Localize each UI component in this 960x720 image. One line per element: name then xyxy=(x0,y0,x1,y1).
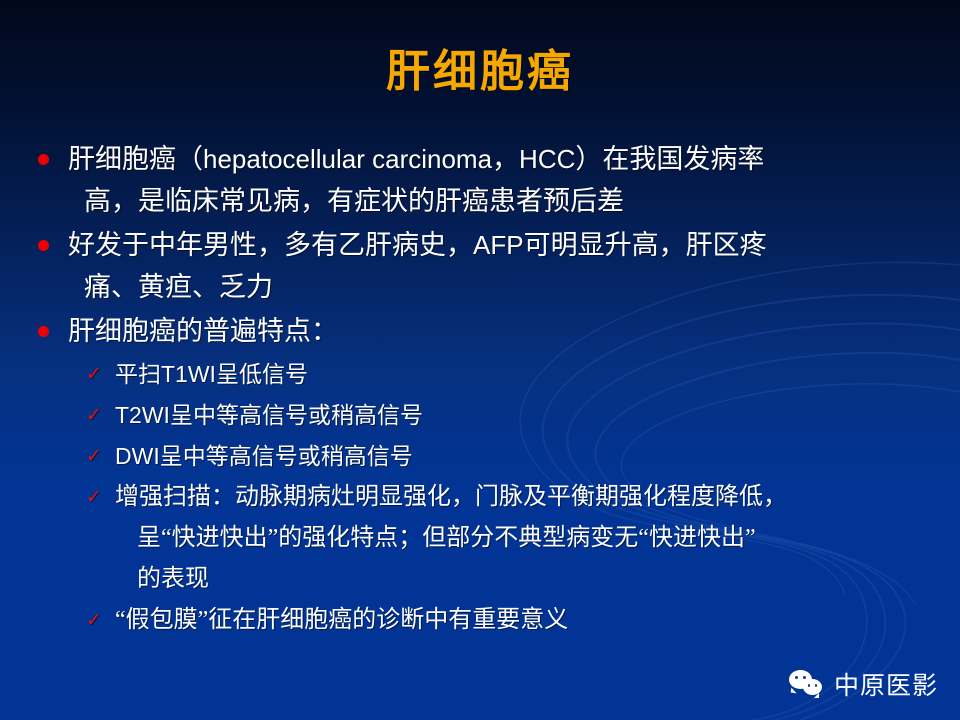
sub-bullet-text-line2: 呈“快进快出”的强化特点；但部分不典型病变无“快进快出” xyxy=(115,518,936,559)
sub-bullet-text: DWI呈中等高信号或稍高信号 xyxy=(115,443,413,469)
bullet-text-part: 肝细胞癌的普遍特点： xyxy=(68,316,338,346)
sub-bullet-text: 增强扫描：动脉期病灶明显强化，门脉及平衡期强化程度降低， xyxy=(115,484,787,510)
check-mark-icon: ✓ xyxy=(86,477,102,518)
presentation-slide: 肝细胞癌 肝细胞癌（hepatocellular carcinoma，HCC）在… xyxy=(0,0,960,720)
sub-bullet-item: ✓ 平扫T1WI呈低信号 xyxy=(0,354,960,395)
bullet-dot-icon xyxy=(38,240,49,251)
bullet-text-line2: 痛、黄疸、乏力 xyxy=(68,266,942,308)
slide-content: 肝细胞癌（hepatocellular carcinoma，HCC）在我国发病率… xyxy=(0,138,960,641)
bullet-text-part: 可明显升高，肝区疼 xyxy=(524,230,767,260)
sub-bullet-text-line3: 的表现 xyxy=(115,559,936,600)
footer-watermark: 中原医影 xyxy=(789,666,938,702)
bullet-text-line2: 高，是临床常见病，有症状的肝癌患者预后差 xyxy=(68,180,942,222)
bullet-dot-icon xyxy=(38,154,49,165)
check-mark-icon: ✓ xyxy=(86,436,102,477)
bullet-dot-icon xyxy=(38,326,49,337)
sub-bullet-text: “假包膜”征在肝细胞癌的诊断中有重要意义 xyxy=(115,607,568,633)
check-mark-icon: ✓ xyxy=(86,395,102,436)
brand-name-label: 中原医影 xyxy=(834,666,938,702)
sub-bullet-item: ✓ “假包膜”征在肝细胞癌的诊断中有重要意义 xyxy=(0,600,960,641)
bullet-item: 好发于中年男性，多有乙肝病史，AFP可明显升高，肝区疼 痛、黄疸、乏力 xyxy=(0,224,960,308)
check-mark-icon: ✓ xyxy=(86,354,102,395)
check-mark-icon: ✓ xyxy=(86,600,102,641)
bullet-text-part: 肝细胞癌（ xyxy=(68,144,203,174)
wechat-icon xyxy=(789,669,825,699)
sub-bullet-text: 平扫T1WI呈低信号 xyxy=(115,361,308,387)
bullet-item: 肝细胞癌（hepatocellular carcinoma，HCC）在我国发病率… xyxy=(0,138,960,222)
page-title: 肝细胞癌 xyxy=(0,48,960,96)
bullet-text-latin: AFP xyxy=(473,230,524,260)
bullet-text-latin: HCC xyxy=(519,144,575,174)
sub-bullet-item: ✓ DWI呈中等高信号或稍高信号 xyxy=(0,436,960,477)
bullet-item: 肝细胞癌的普遍特点： xyxy=(0,310,960,352)
sub-bullet-item: ✓ T2WI呈中等高信号或稍高信号 xyxy=(0,395,960,436)
bullet-text-latin: hepatocellular carcinoma xyxy=(203,144,492,174)
bullet-text-part: 好发于中年男性，多有乙肝病史， xyxy=(68,230,473,260)
bullet-text-part: ）在我国发病率 xyxy=(575,144,764,174)
sub-bullet-text: T2WI呈中等高信号或稍高信号 xyxy=(115,402,423,428)
bullet-text-part: ， xyxy=(492,144,519,174)
sub-bullet-item: ✓ 增强扫描：动脉期病灶明显强化，门脉及平衡期强化程度降低， 呈“快进快出”的强… xyxy=(0,477,960,600)
